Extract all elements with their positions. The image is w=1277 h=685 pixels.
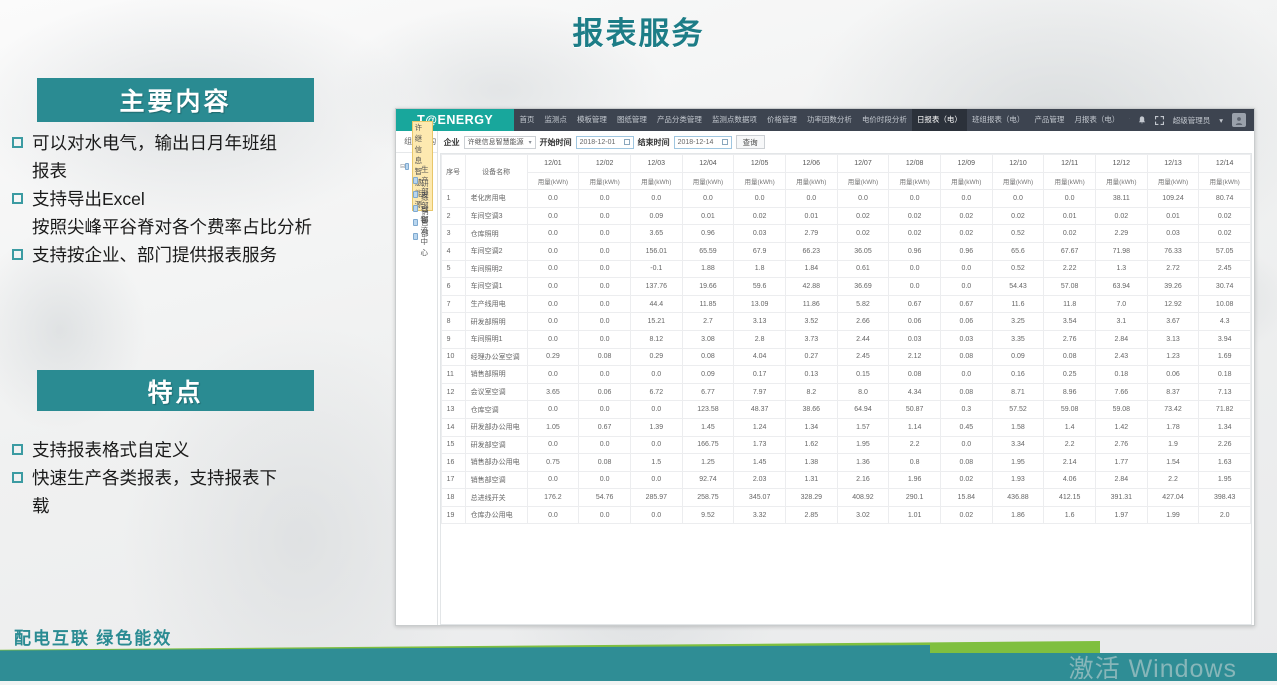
cell-usage-value: 1.3: [1096, 260, 1148, 278]
cell-usage-value: 2.7: [682, 313, 734, 331]
cell-index: 17: [441, 471, 465, 489]
cell-usage-value: 427.04: [1147, 489, 1199, 507]
cell-usage-value: 1.4: [1044, 418, 1096, 436]
cell-usage-value: 3.32: [734, 506, 786, 524]
cell-usage-value: 39.26: [1147, 278, 1199, 296]
user-menu-label[interactable]: 超级管理员: [1173, 115, 1211, 126]
fullscreen-icon[interactable]: [1155, 116, 1164, 125]
cell-usage-value: 2.72: [1147, 260, 1199, 278]
table-header-unit: 用量(kWh): [1199, 172, 1251, 190]
cell-usage-value: 1.05: [527, 418, 579, 436]
cell-index: 4: [441, 242, 465, 260]
cell-usage-value: 1.84: [785, 260, 837, 278]
table-header-date: 12/05: [734, 155, 786, 173]
cell-usage-value: 2.14: [1044, 454, 1096, 472]
cell-usage-value: 2.26: [1199, 436, 1251, 454]
cell-usage-value: 8.96: [1044, 383, 1096, 401]
cell-usage-value: 0.0: [527, 295, 579, 313]
cell-usage-value: 123.58: [682, 401, 734, 419]
table-header-date: 12/01: [527, 155, 579, 173]
table-header-unit: 用量(kWh): [734, 172, 786, 190]
cell-usage-value: 0.0: [630, 401, 682, 419]
main-content-list: 可以对水电气，输出日月年班组报表支持导出Excel按照尖峰平谷脊对各个费率占比分…: [12, 130, 357, 270]
table-header-unit: 用量(kWh): [1147, 172, 1199, 190]
table-row[interactable]: 2车间空调30.00.00.090.010.020.010.020.020.02…: [441, 207, 1250, 225]
table-row[interactable]: 11销售部照明0.00.00.00.090.170.130.150.080.00…: [441, 366, 1250, 384]
main-content-banner: 主要内容: [37, 78, 314, 122]
table-header-unit: 用量(kWh): [992, 172, 1044, 190]
cell-device-name: 车间空调3: [465, 207, 527, 225]
cell-usage-value: 63.94: [1096, 278, 1148, 296]
topnav-item-link[interactable]: 监测点数据项: [707, 109, 762, 131]
cell-index: 14: [441, 418, 465, 436]
cell-usage-value: 71.82: [1199, 401, 1251, 419]
brand-text-post: ENERGY: [437, 113, 493, 127]
table-header-unit: 用量(kWh): [682, 172, 734, 190]
cell-usage-value: 2.44: [837, 330, 889, 348]
table-row[interactable]: 7生产线用电0.00.044.411.8513.0911.865.820.670…: [441, 295, 1250, 313]
table-header-unit: 用量(kWh): [1044, 172, 1096, 190]
cell-usage-value: 8.12: [630, 330, 682, 348]
cell-usage-value: 1.45: [734, 454, 786, 472]
topnav-item-link[interactable]: 首页: [514, 109, 539, 131]
cell-device-name: 研发部空调: [465, 436, 527, 454]
cell-usage-value: 0.0: [630, 436, 682, 454]
cell-usage-value: 4.34: [889, 383, 941, 401]
cell-device-name: 车间照明1: [465, 330, 527, 348]
cell-usage-value: 9.52: [682, 506, 734, 524]
folder-icon: [413, 177, 418, 184]
cell-usage-value: 4.06: [1044, 471, 1096, 489]
cell-index: 3: [441, 225, 465, 243]
cell-device-name: 车间空调1: [465, 278, 527, 296]
report-table-container: 序号设备名称12/0112/0212/0312/0412/0512/0612/0…: [440, 153, 1252, 625]
cell-usage-value: 1.95: [837, 436, 889, 454]
cell-usage-value: 0.0: [579, 190, 631, 208]
cell-usage-value: 2.76: [1096, 436, 1148, 454]
cell-usage-value: 2.84: [1096, 471, 1148, 489]
table-header-date: 12/14: [1199, 155, 1251, 173]
cell-usage-value: 8.0: [837, 383, 889, 401]
cell-usage-value: 73.42: [1147, 401, 1199, 419]
cell-usage-value: 3.13: [734, 313, 786, 331]
table-header-unit: 用量(kWh): [889, 172, 941, 190]
cell-usage-value: 36.69: [837, 278, 889, 296]
cell-device-name: 经理办公室空调: [465, 348, 527, 366]
cell-usage-value: 66.23: [785, 242, 837, 260]
cell-usage-value: 2.45: [837, 348, 889, 366]
cell-device-name: 仓库照明: [465, 225, 527, 243]
cell-usage-value: 3.67: [1147, 313, 1199, 331]
table-row[interactable]: 17销售部空调0.00.00.092.742.031.312.161.960.0…: [441, 471, 1250, 489]
cell-usage-value: 1.31: [785, 471, 837, 489]
cell-usage-value: 3.34: [992, 436, 1044, 454]
cell-usage-value: 285.97: [630, 489, 682, 507]
table-row[interactable]: 16销售部办公用电0.750.081.51.251.451.381.360.80…: [441, 454, 1250, 472]
table-header-index: 序号: [441, 155, 465, 190]
cell-usage-value: 0.0: [992, 190, 1044, 208]
cell-usage-value: 1.34: [785, 418, 837, 436]
cell-usage-value: 0.0: [630, 471, 682, 489]
cell-usage-value: 54.76: [579, 489, 631, 507]
table-row[interactable]: 9车间照明10.00.08.123.082.83.732.440.030.033…: [441, 330, 1250, 348]
cell-usage-value: 0.13: [785, 366, 837, 384]
cell-usage-value: 1.9: [1147, 436, 1199, 454]
cell-usage-value: 7.97: [734, 383, 786, 401]
cell-usage-value: 0.02: [837, 207, 889, 225]
cell-usage-value: 15.84: [940, 489, 992, 507]
bullet-row: 支持按企业、部门提供报表服务: [12, 242, 357, 269]
cell-usage-value: 408.92: [837, 489, 889, 507]
cell-device-name: 车间照明2: [465, 260, 527, 278]
table-header-unit: 用量(kWh): [579, 172, 631, 190]
cell-device-name: 车间空调2: [465, 242, 527, 260]
cell-usage-value: 44.4: [630, 295, 682, 313]
cell-usage-value: 0.0: [682, 190, 734, 208]
cell-index: 10: [441, 348, 465, 366]
cell-usage-value: 0.02: [889, 225, 941, 243]
cell-usage-value: 1.97: [1096, 506, 1148, 524]
bullet-row: 支持导出Excel: [12, 186, 357, 213]
cell-usage-value: 0.01: [682, 207, 734, 225]
folder-icon: [413, 219, 418, 226]
cell-usage-value: 1.24: [734, 418, 786, 436]
table-row[interactable]: 5车间照明20.00.0-0.11.881.81.840.610.00.00.5…: [441, 260, 1250, 278]
cell-usage-value: 2.66: [837, 313, 889, 331]
cell-usage-value: 64.94: [837, 401, 889, 419]
cell-usage-value: 156.01: [630, 242, 682, 260]
cell-usage-value: 6.72: [630, 383, 682, 401]
table-header-unit: 用量(kWh): [630, 172, 682, 190]
cell-index: 11: [441, 366, 465, 384]
cell-usage-value: 0.02: [734, 207, 786, 225]
folder-icon: [413, 191, 418, 198]
table-row[interactable]: 4车间空调20.00.0156.0165.5967.966.2336.050.9…: [441, 242, 1250, 260]
cell-usage-value: 0.67: [940, 295, 992, 313]
cell-usage-value: 0.09: [992, 348, 1044, 366]
cell-usage-value: 0.0: [940, 260, 992, 278]
topnav-item-link[interactable]: 电价时段分析: [857, 109, 912, 131]
cell-usage-value: 30.74: [1199, 278, 1251, 296]
end-date-input[interactable]: 2018-12-14: [674, 136, 732, 149]
tree-node-物流中心[interactable]: 物流中心: [400, 229, 433, 243]
cell-usage-value: 0.0: [889, 260, 941, 278]
bullet-square-icon: [12, 137, 23, 148]
cell-usage-value: 0.52: [992, 260, 1044, 278]
bullet-text: 按照尖峰平谷脊对各个费率占比分析: [32, 214, 357, 241]
cell-usage-value: 0.96: [889, 242, 941, 260]
table-header-unit: 用量(kWh): [940, 172, 992, 190]
cell-usage-value: 0.0: [579, 330, 631, 348]
table-header-unit: 用量(kWh): [785, 172, 837, 190]
cell-usage-value: 0.0: [527, 225, 579, 243]
cell-usage-value: 0.08: [579, 454, 631, 472]
cell-usage-value: 0.08: [1044, 348, 1096, 366]
table-header-date: 12/02: [579, 155, 631, 173]
cell-index: 5: [441, 260, 465, 278]
cell-device-name: 销售部照明: [465, 366, 527, 384]
cell-usage-value: 0.0: [630, 366, 682, 384]
cell-usage-value: 3.02: [837, 506, 889, 524]
cell-usage-value: 3.08: [682, 330, 734, 348]
cell-usage-value: 0.15: [837, 366, 889, 384]
cell-usage-value: 2.84: [1096, 330, 1148, 348]
page-title: 报表服务: [0, 8, 1277, 53]
start-date-value: 2018-12-01: [580, 139, 616, 146]
cell-usage-value: 0.0: [630, 190, 682, 208]
calendar-icon: [722, 139, 728, 145]
cell-usage-value: 1.23: [1147, 348, 1199, 366]
filter-toolbar: 企业 许继信息智慧能源 ▾ 开始时间 2018-12-01 结束时间 2018-…: [438, 131, 1254, 153]
cell-usage-value: 137.76: [630, 278, 682, 296]
table-row[interactable]: 3仓库照明0.00.03.650.960.032.790.020.020.020…: [441, 225, 1250, 243]
cell-usage-value: 0.08: [682, 348, 734, 366]
chevron-down-icon: ▾: [529, 139, 532, 146]
cell-usage-value: 2.16: [837, 471, 889, 489]
table-row[interactable]: 14研发部办公用电1.050.671.391.451.241.341.571.1…: [441, 418, 1250, 436]
bullet-row: 报表: [12, 158, 357, 185]
cell-usage-value: 1.34: [1199, 418, 1251, 436]
cell-usage-value: 0.0: [940, 278, 992, 296]
cell-usage-value: 11.6: [992, 295, 1044, 313]
bullet-row: 按照尖峰平谷脊对各个费率占比分析: [12, 214, 357, 241]
cell-usage-value: 36.05: [837, 242, 889, 260]
cell-usage-value: 0.0: [579, 225, 631, 243]
topnav-item-link[interactable]: 功率因数分析: [802, 109, 857, 131]
cell-usage-value: 15.21: [630, 313, 682, 331]
feature-list: 支持报表格式自定义快速生产各类报表，支持报表下载: [12, 437, 357, 521]
cell-usage-value: 0.0: [527, 260, 579, 278]
cell-device-name: 仓库空调: [465, 401, 527, 419]
start-time-label: 开始时间: [540, 137, 572, 148]
table-row[interactable]: 12会议室空调3.650.066.726.777.978.28.04.340.0…: [441, 383, 1250, 401]
cell-usage-value: 2.2: [1044, 436, 1096, 454]
enterprise-select[interactable]: 许继信息智慧能源 ▾: [464, 136, 536, 149]
tagline: 配电互联 绿色能效: [14, 624, 172, 649]
table-row[interactable]: 1老化房用电0.00.00.00.00.00.00.00.00.00.00.03…: [441, 190, 1250, 208]
cell-device-name: 会议室空调: [465, 383, 527, 401]
cell-usage-value: 290.1: [889, 489, 941, 507]
cell-usage-value: 0.45: [940, 418, 992, 436]
cell-usage-value: 0.29: [630, 348, 682, 366]
cell-usage-value: 0.0: [527, 330, 579, 348]
cell-usage-value: 0.16: [992, 366, 1044, 384]
cell-index: 13: [441, 401, 465, 419]
cell-device-name: 总进线开关: [465, 489, 527, 507]
bullet-square-icon: [12, 193, 23, 204]
cell-usage-value: 328.29: [785, 489, 837, 507]
cell-usage-value: 0.0: [579, 436, 631, 454]
cell-usage-value: 2.12: [889, 348, 941, 366]
cell-usage-value: 0.0: [527, 207, 579, 225]
topnav-item-link[interactable]: 产品管理: [1029, 109, 1069, 131]
table-row[interactable]: 13仓库空调0.00.00.0123.5848.3738.6664.9450.8…: [441, 401, 1250, 419]
cell-usage-value: 0.0: [579, 313, 631, 331]
report-table: 序号设备名称12/0112/0212/0312/0412/0512/0612/0…: [441, 154, 1251, 524]
cell-usage-value: 71.98: [1096, 242, 1148, 260]
cell-usage-value: 2.45: [1199, 260, 1251, 278]
topnav-item-link[interactable]: 产品分类管理: [652, 109, 707, 131]
cell-usage-value: 1.86: [992, 506, 1044, 524]
app-screenshot: T@ENERGY 首页监测点模板管理图纸管理产品分类管理监测点数据项价格管理功率…: [395, 108, 1255, 626]
cell-usage-value: 38.66: [785, 401, 837, 419]
cell-usage-value: 0.06: [889, 313, 941, 331]
bullet-row: 可以对水电气，输出日月年班组: [12, 130, 357, 157]
cell-usage-value: 0.0: [527, 401, 579, 419]
cell-usage-value: 38.11: [1096, 190, 1148, 208]
cell-usage-value: 10.08: [1199, 295, 1251, 313]
cell-usage-value: 8.37: [1147, 383, 1199, 401]
topnav-item-link[interactable]: 班组报表（电）: [967, 109, 1030, 131]
cell-usage-value: 92.74: [682, 471, 734, 489]
cell-usage-value: 2.03: [734, 471, 786, 489]
windows-activation-watermark: 激活 Windows: [1069, 649, 1237, 685]
cell-usage-value: 12.92: [1147, 295, 1199, 313]
cell-usage-value: 391.31: [1096, 489, 1148, 507]
cell-usage-value: 1.95: [1199, 471, 1251, 489]
cell-usage-value: 11.8: [1044, 295, 1096, 313]
cell-usage-value: 1.58: [992, 418, 1044, 436]
topnav-item-link[interactable]: 价格管理: [762, 109, 802, 131]
cell-usage-value: 3.52: [785, 313, 837, 331]
cell-usage-value: 8.71: [992, 383, 1044, 401]
cell-usage-value: 0.02: [940, 207, 992, 225]
cell-usage-value: 0.17: [734, 366, 786, 384]
cell-device-name: 老化房用电: [465, 190, 527, 208]
cell-device-name: 生产线用电: [465, 295, 527, 313]
table-header-date: 12/04: [682, 155, 734, 173]
topnav-item-link[interactable]: 模板管理: [572, 109, 612, 131]
start-date-input[interactable]: 2018-12-01: [576, 136, 634, 149]
bullet-square-icon: [12, 472, 23, 483]
cell-usage-value: 59.6: [734, 278, 786, 296]
cell-usage-value: 0.09: [682, 366, 734, 384]
bullet-text: 支持按企业、部门提供报表服务: [32, 242, 357, 269]
cell-usage-value: 67.67: [1044, 242, 1096, 260]
cell-usage-value: 0.0: [940, 190, 992, 208]
table-row[interactable]: 18总进线开关176.254.76285.97258.75345.07328.2…: [441, 489, 1250, 507]
cell-usage-value: 3.25: [992, 313, 1044, 331]
cell-usage-value: 0.0: [630, 506, 682, 524]
cell-usage-value: 1.77: [1096, 454, 1148, 472]
cell-usage-value: 13.09: [734, 295, 786, 313]
cell-usage-value: 0.18: [1199, 366, 1251, 384]
cell-usage-value: 176.2: [527, 489, 579, 507]
cell-usage-value: 1.54: [1147, 454, 1199, 472]
cell-usage-value: 2.22: [1044, 260, 1096, 278]
cell-usage-value: 1.73: [734, 436, 786, 454]
cell-usage-value: 5.82: [837, 295, 889, 313]
cell-index: 6: [441, 278, 465, 296]
query-button[interactable]: 查询: [736, 135, 765, 149]
cell-usage-value: 80.74: [1199, 190, 1251, 208]
cell-usage-value: 0.0: [527, 366, 579, 384]
cell-usage-value: 0.0: [734, 190, 786, 208]
cell-usage-value: 3.54: [1044, 313, 1096, 331]
org-tree-body: ⊟许继信息智慧能源生产部研发部综合部销售部物流中心: [396, 153, 437, 249]
cell-usage-value: 0.0: [527, 436, 579, 454]
cell-usage-value: 19.66: [682, 278, 734, 296]
cell-device-name: 研发部办公用电: [465, 418, 527, 436]
cell-usage-value: 1.6: [1044, 506, 1096, 524]
bullet-text: 支持导出Excel: [32, 186, 357, 213]
org-tree-panel: 组织机构 ⊟许继信息智慧能源生产部研发部综合部销售部物流中心: [396, 131, 438, 626]
table-row[interactable]: 15研发部空调0.00.00.0166.751.731.621.952.20.0…: [441, 436, 1250, 454]
cell-usage-value: 57.52: [992, 401, 1044, 419]
table-header-unit: 用量(kWh): [527, 172, 579, 190]
topnav-item-link[interactable]: 图纸管理: [612, 109, 652, 131]
cell-usage-value: 0.61: [837, 260, 889, 278]
cell-index: 1: [441, 190, 465, 208]
cell-usage-value: 1.45: [682, 418, 734, 436]
cell-usage-value: 0.29: [527, 348, 579, 366]
cell-usage-value: 0.0: [785, 190, 837, 208]
bullet-text: 支持报表格式自定义: [32, 437, 357, 464]
topnav-item-link[interactable]: 月报表（电）: [1069, 109, 1124, 131]
cell-usage-value: 0.75: [527, 454, 579, 472]
cell-usage-value: -0.1: [630, 260, 682, 278]
cell-usage-value: 3.73: [785, 330, 837, 348]
cell-usage-value: 0.01: [1147, 207, 1199, 225]
cell-usage-value: 0.52: [992, 225, 1044, 243]
bullet-square-icon: [12, 249, 23, 260]
app-body: ▣能源看板⌄▣能源监控⌄▣配电监控⌄▣视频监控⌄▣能耗统计⌄▣能耗分析⌄▣电能分…: [396, 131, 1254, 626]
cell-device-name: 研发部照明: [465, 313, 527, 331]
cell-usage-value: 436.88: [992, 489, 1044, 507]
cell-usage-value: 1.96: [889, 471, 941, 489]
cell-usage-value: 2.29: [1096, 225, 1148, 243]
cell-usage-value: 0.3: [940, 401, 992, 419]
cell-usage-value: 2.85: [785, 506, 837, 524]
cell-usage-value: 0.0: [527, 471, 579, 489]
cell-usage-value: 2.2: [889, 436, 941, 454]
table-row[interactable]: 19仓库办公用电0.00.00.09.523.322.853.021.010.0…: [441, 506, 1250, 524]
cell-usage-value: 1.62: [785, 436, 837, 454]
cell-usage-value: 2.8: [734, 330, 786, 348]
cell-device-name: 销售部办公用电: [465, 454, 527, 472]
cell-usage-value: 0.0: [579, 471, 631, 489]
bell-icon[interactable]: [1138, 116, 1146, 125]
bullet-text: 快速生产各类报表，支持报表下: [32, 465, 357, 492]
table-header-unit: 用量(kWh): [837, 172, 889, 190]
table-row[interactable]: 6车间空调10.00.0137.7619.6659.642.8836.690.0…: [441, 278, 1250, 296]
chevron-down-icon[interactable]: ▾: [1219, 116, 1223, 125]
cell-usage-value: 0.08: [940, 454, 992, 472]
table-row[interactable]: 10经理办公室空调0.290.080.290.084.040.272.452.1…: [441, 348, 1250, 366]
cell-usage-value: 1.01: [889, 506, 941, 524]
cell-index: 15: [441, 436, 465, 454]
bullet-row: 支持报表格式自定义: [12, 437, 357, 464]
topnav-item-active[interactable]: 日报表（电）: [912, 109, 967, 131]
cell-usage-value: 0.06: [579, 383, 631, 401]
cell-usage-value: 166.75: [682, 436, 734, 454]
topnav-item-link[interactable]: 监测点: [539, 109, 572, 131]
cell-usage-value: 1.25: [682, 454, 734, 472]
avatar[interactable]: [1232, 113, 1246, 127]
cell-usage-value: 0.0: [527, 313, 579, 331]
cell-usage-value: 0.08: [940, 383, 992, 401]
cell-usage-value: 0.03: [1147, 225, 1199, 243]
cell-usage-value: 3.65: [527, 383, 579, 401]
cell-usage-value: 0.01: [785, 207, 837, 225]
table-row[interactable]: 8研发部照明0.00.015.212.73.133.522.660.060.06…: [441, 313, 1250, 331]
cell-device-name: 销售部空调: [465, 471, 527, 489]
cell-usage-value: 0.08: [889, 366, 941, 384]
cell-usage-value: 0.0: [837, 190, 889, 208]
folder-icon: [413, 205, 418, 212]
cell-usage-value: 1.36: [837, 454, 889, 472]
cell-index: 9: [441, 330, 465, 348]
